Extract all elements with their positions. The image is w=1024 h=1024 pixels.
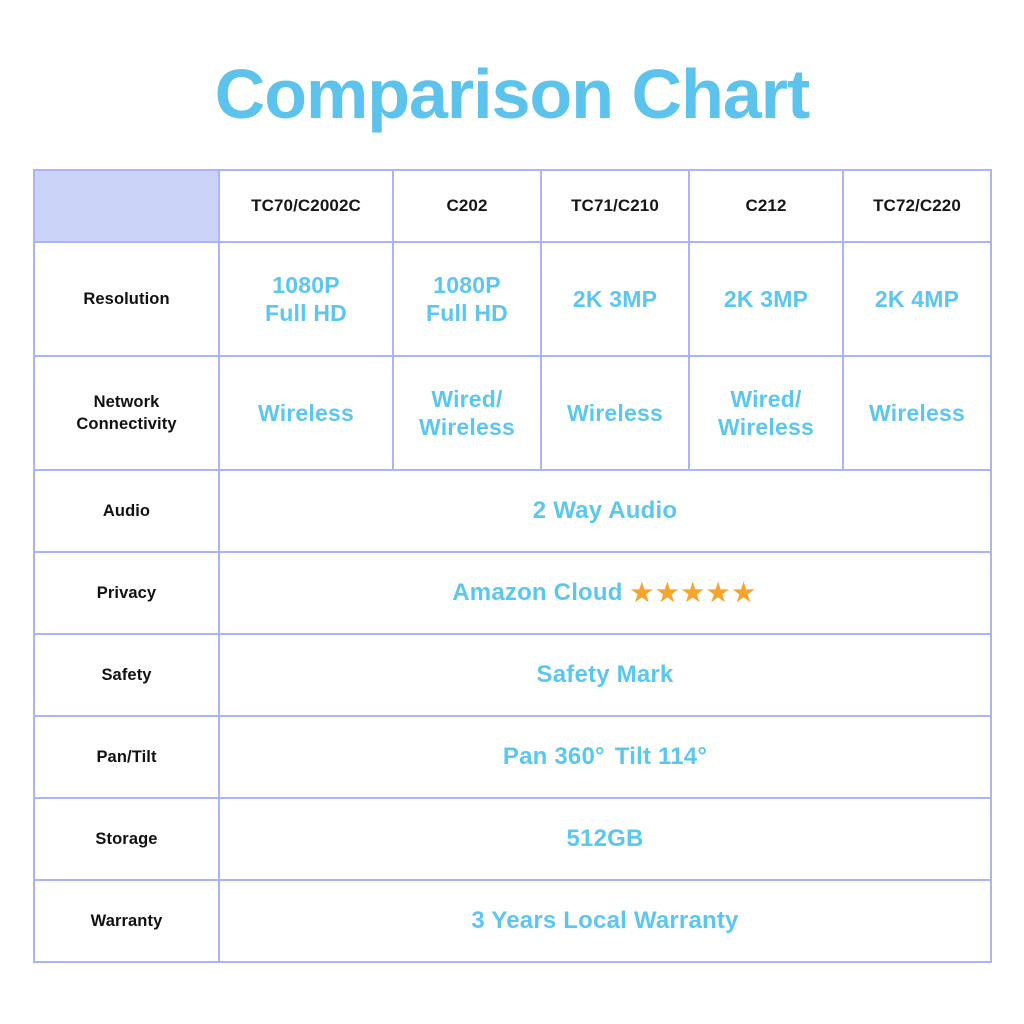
comparison-table: TC70/C2002C C202 TC71/C210 C212 TC72/C22… [33, 169, 992, 963]
table-row-safety: Safety Safety Mark [34, 634, 991, 716]
table-row-privacy: Privacy Amazon Cloud★★★★★ [34, 552, 991, 634]
row-label-line2: Connectivity [35, 413, 218, 435]
pan-value: Pan 360° [503, 743, 605, 770]
cell-safety-all: Safety Mark [219, 634, 991, 716]
table-body: Resolution 1080P Full HD 1080P Full HD 2… [34, 242, 991, 962]
cell-text-line2: Wireless [690, 413, 842, 441]
cell-audio-all: 2 Way Audio [219, 470, 991, 552]
cell-text-line1: 2K 4MP [844, 285, 990, 313]
cell-network-tc70: Wireless [219, 356, 393, 470]
table-row-warranty: Warranty 3 Years Local Warranty [34, 880, 991, 962]
cell-resolution-tc71: 2K 3MP [541, 242, 689, 356]
cell-privacy-all: Amazon Cloud★★★★★ [219, 552, 991, 634]
row-label-network-connectivity: Network Connectivity [34, 356, 219, 470]
cell-pan-tilt-all: Pan 360°Tilt 114° [219, 716, 991, 798]
table-row-audio: Audio 2 Way Audio [34, 470, 991, 552]
header-row: TC70/C2002C C202 TC71/C210 C212 TC72/C22… [34, 170, 991, 242]
header-cell-c202: C202 [393, 170, 541, 242]
cell-text-line1: 2K 3MP [690, 285, 842, 313]
row-label-resolution: Resolution [34, 242, 219, 356]
row-label-warranty: Warranty [34, 880, 219, 962]
star-icon: ★ [707, 581, 732, 606]
table-header: TC70/C2002C C202 TC71/C210 C212 TC72/C22… [34, 170, 991, 242]
cell-text-line1: Wireless [542, 399, 688, 427]
star-icon: ★ [631, 581, 656, 606]
header-cell-tc70: TC70/C2002C [219, 170, 393, 242]
cell-resolution-c212: 2K 3MP [689, 242, 843, 356]
row-label-privacy: Privacy [34, 552, 219, 634]
comparison-chart-page: Comparison Chart TC70/C2002C C202 TC71/C… [0, 0, 1024, 1024]
star-icon: ★ [732, 581, 757, 606]
row-label-pan-tilt: Pan/Tilt [34, 716, 219, 798]
cell-text-line1: 1080P [220, 271, 392, 299]
cell-network-c202: Wired/ Wireless [393, 356, 541, 470]
privacy-value-text: Amazon Cloud [452, 579, 622, 606]
header-cell-tc71: TC71/C210 [541, 170, 689, 242]
row-label-line1: Network [35, 391, 218, 413]
cell-network-tc71: Wireless [541, 356, 689, 470]
cell-resolution-tc72: 2K 4MP [843, 242, 991, 356]
header-cell-corner [34, 170, 219, 242]
table-row-resolution: Resolution 1080P Full HD 1080P Full HD 2… [34, 242, 991, 356]
row-label-audio: Audio [34, 470, 219, 552]
tilt-value: Tilt 114° [615, 743, 707, 770]
table-row-storage: Storage 512GB [34, 798, 991, 880]
cell-text-line2: Full HD [394, 299, 540, 327]
cell-text-line2: Full HD [220, 299, 392, 327]
star-icon: ★ [681, 581, 706, 606]
cell-storage-all: 512GB [219, 798, 991, 880]
comparison-table-wrapper: TC70/C2002C C202 TC71/C210 C212 TC72/C22… [33, 169, 990, 963]
table-row-network-connectivity: Network Connectivity Wireless Wired/ Wir… [34, 356, 991, 470]
header-cell-tc72: TC72/C220 [843, 170, 991, 242]
cell-resolution-c202: 1080P Full HD [393, 242, 541, 356]
cell-text-line1: Wired/ [394, 385, 540, 413]
cell-text-line1: 2K 3MP [542, 285, 688, 313]
cell-network-tc72: Wireless [843, 356, 991, 470]
cell-network-c212: Wired/ Wireless [689, 356, 843, 470]
page-title: Comparison Chart [0, 56, 1024, 133]
cell-text-line1: Wired/ [690, 385, 842, 413]
table-row-pan-tilt: Pan/Tilt Pan 360°Tilt 114° [34, 716, 991, 798]
star-rating-icon: ★★★★★ [631, 579, 758, 608]
cell-text-line1: Wireless [844, 399, 990, 427]
star-icon: ★ [656, 581, 681, 606]
cell-warranty-all: 3 Years Local Warranty [219, 880, 991, 962]
header-cell-c212: C212 [689, 170, 843, 242]
cell-text-line1: Wireless [220, 399, 392, 427]
cell-text-line2: Wireless [394, 413, 540, 441]
row-label-safety: Safety [34, 634, 219, 716]
cell-text-line1: 1080P [394, 271, 540, 299]
row-label-storage: Storage [34, 798, 219, 880]
cell-resolution-tc70: 1080P Full HD [219, 242, 393, 356]
